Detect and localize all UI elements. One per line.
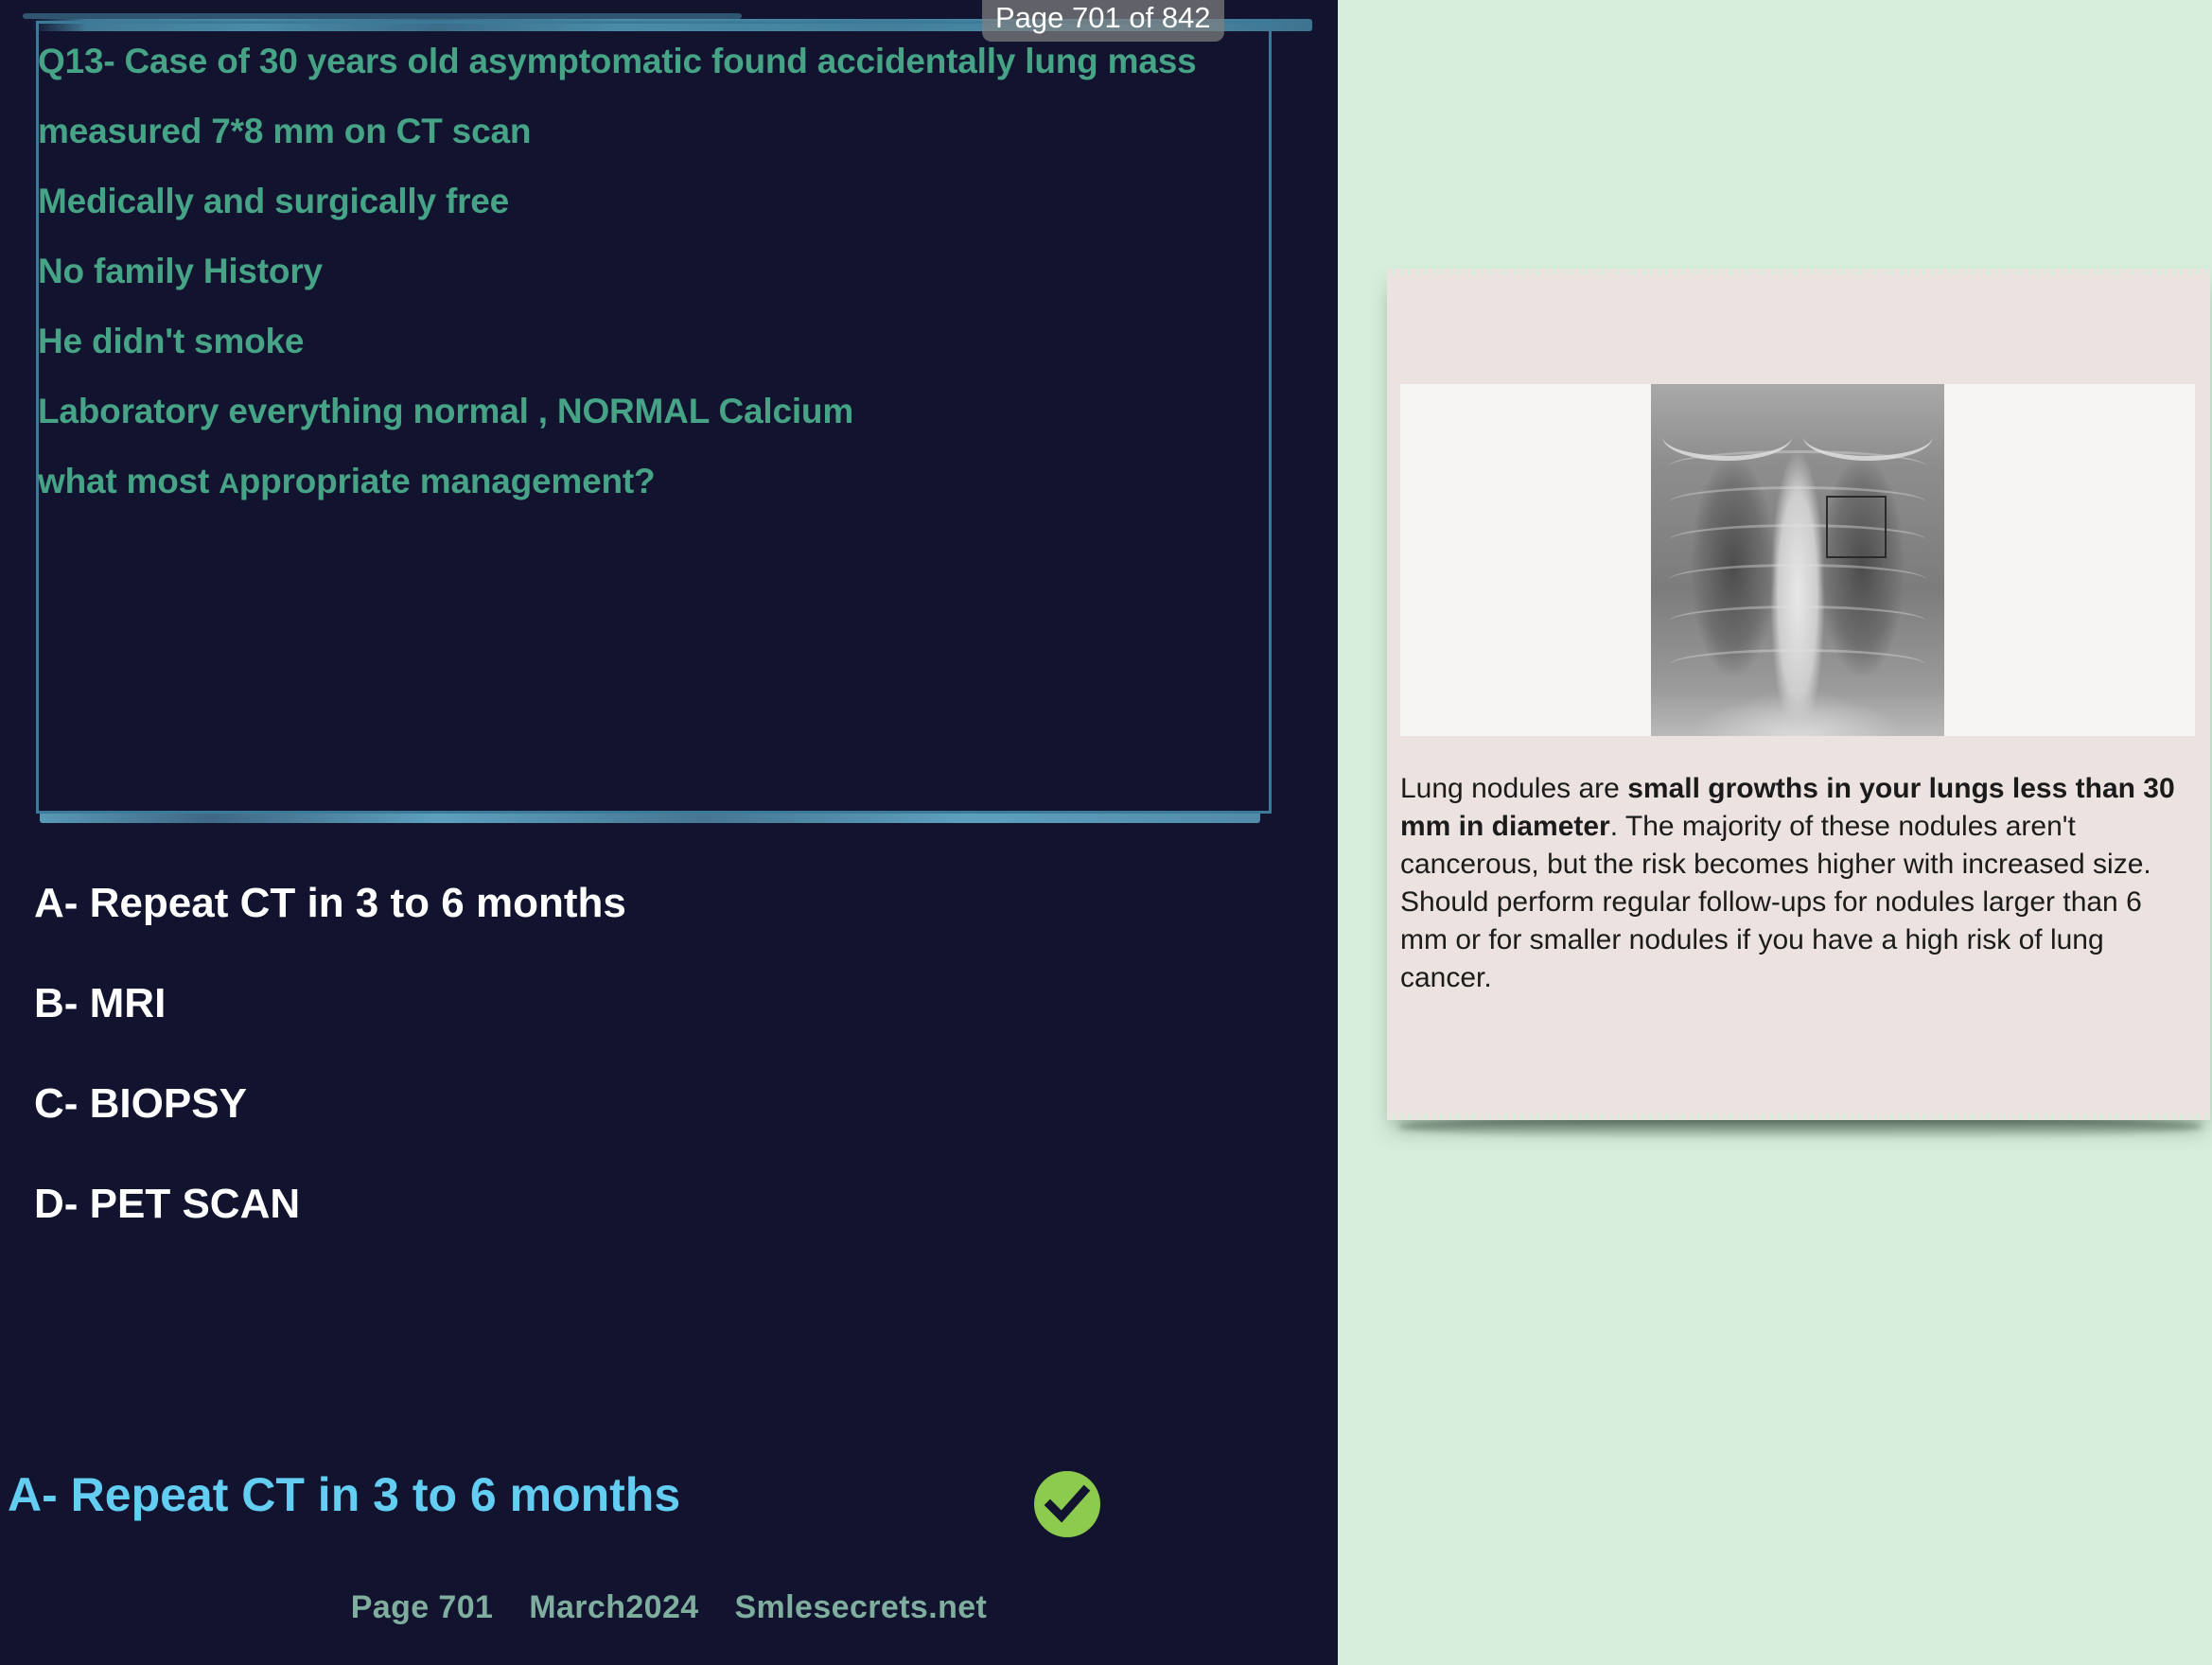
footer-date: March2024: [529, 1589, 698, 1625]
question-text: Q13- Case of 30 years old asymptomatic f…: [38, 26, 1220, 519]
info-card-text: Lung nodules are small growths in your l…: [1400, 770, 2186, 997]
page-indicator: Page 701 of 842: [982, 0, 1224, 42]
nodule-highlight-box: [1826, 496, 1887, 558]
prompt-suffix: ppropriate management?: [239, 462, 656, 500]
option-a[interactable]: A- Repeat CT in 3 to 6 months: [34, 870, 1264, 971]
info-card: Lung nodules are small growths in your l…: [1387, 269, 2210, 1120]
chest-xray-image: [1400, 384, 2195, 736]
option-b[interactable]: B- MRI: [34, 971, 1264, 1071]
question-line-5: Laboratory everything normal , NORMAL Ca…: [38, 377, 1220, 447]
slide-footer: Page 701 March2024 Smlesecrets.net: [0, 1589, 1338, 1626]
question-line-1: Q13- Case of 30 years old asymptomatic f…: [38, 26, 1220, 166]
footer-site: Smlesecrets.net: [734, 1589, 987, 1625]
question-line-4: He didn't smoke: [38, 307, 1220, 377]
rib-line: [1669, 564, 1927, 580]
option-c[interactable]: C- BIOPSY: [34, 1071, 1264, 1171]
question-prompt: what most Appropriate management?: [38, 447, 1220, 519]
question-line-3: No family History: [38, 237, 1220, 307]
option-d[interactable]: D- PET SCAN: [34, 1171, 1264, 1271]
slide-page: Q13- Case of 30 years old asymptomatic f…: [0, 0, 2212, 1665]
prompt-prefix: what most: [38, 462, 219, 500]
options-list: A- Repeat CT in 3 to 6 months B- MRI C- …: [34, 870, 1264, 1271]
rib-line: [1669, 649, 1927, 665]
xray-render: [1651, 384, 1944, 736]
rib-line: [1669, 605, 1927, 622]
question-line-2: Medically and surgically free: [38, 166, 1220, 237]
footer-page: Page 701: [351, 1589, 494, 1625]
prompt-smallcap: A: [219, 468, 238, 499]
slide-panel: Q13- Case of 30 years old asymptomatic f…: [0, 0, 1338, 1665]
check-circle-icon: [1031, 1468, 1103, 1540]
rib-line: [1669, 486, 1927, 502]
rib-line: [1669, 524, 1927, 540]
info-lead: Lung nodules are: [1400, 773, 1627, 804]
